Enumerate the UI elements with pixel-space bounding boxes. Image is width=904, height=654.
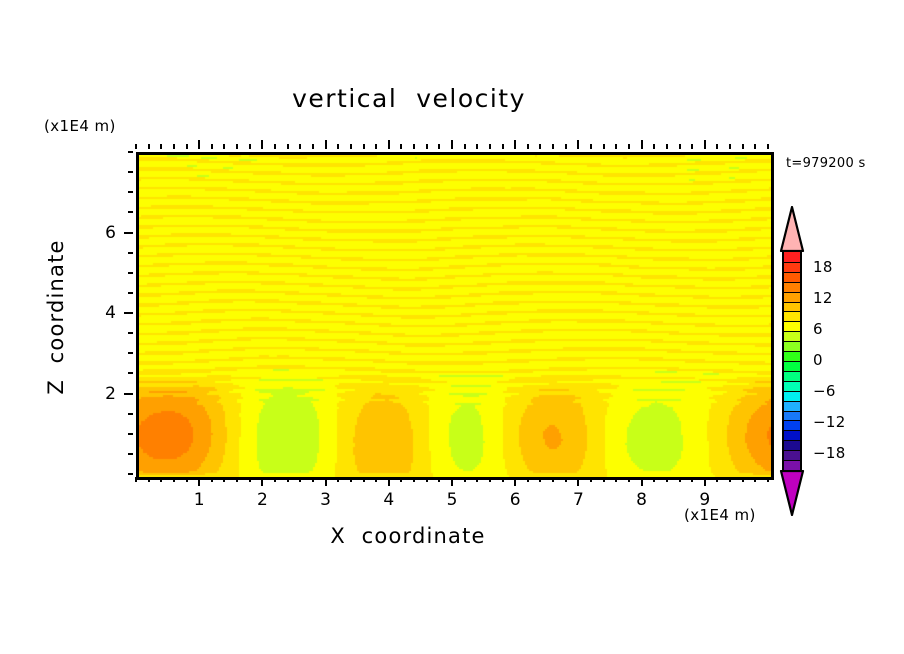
z-axis-minor-tick (128, 292, 133, 294)
x-axis-major-tick-top (261, 140, 263, 149)
x-axis-major-tick (198, 477, 200, 486)
x-axis-minor-tick (666, 477, 668, 482)
colorbar-band (784, 411, 800, 422)
x-axis-title-text: X coordinate (330, 524, 485, 548)
colorbar-band (784, 351, 800, 362)
x-axis-minor-tick (211, 477, 213, 482)
x-axis-minor-tick-top (653, 144, 655, 149)
x-axis-minor-tick-top (400, 144, 402, 149)
x-axis-minor-tick (287, 477, 289, 482)
x-axis-major-tick (514, 477, 516, 486)
colorbar-band-divider (784, 361, 800, 362)
z-axis-minor-tick (128, 352, 133, 354)
x-axis-minor-tick (754, 477, 756, 482)
x-axis-major-tick (641, 477, 643, 486)
x-axis-minor-tick-top (527, 144, 529, 149)
x-axis-minor-tick (426, 477, 428, 482)
page-title: vertical velocity (0, 84, 904, 113)
x-axis-minor-tick-top (464, 144, 466, 149)
x-axis-minor-tick (274, 477, 276, 482)
x-axis-minor-tick (337, 477, 339, 482)
x-axis-major-tick (325, 477, 327, 486)
colorbar-tick-label: −12 (813, 413, 846, 431)
x-axis-minor-tick (236, 477, 238, 482)
z-axis-tick-label: 6 (76, 223, 116, 243)
colorbar-band-divider (784, 351, 800, 352)
x-axis-minor-tick-top (148, 144, 150, 149)
x-axis-minor-tick (539, 477, 541, 482)
x-axis-minor-tick (350, 477, 352, 482)
page-title-text: vertical velocity (292, 84, 526, 113)
colorbar-band-divider (784, 391, 800, 392)
x-axis-minor-tick-top (249, 144, 251, 149)
z-axis-tick-label: 4 (76, 303, 116, 323)
colorbar-band-divider (784, 341, 800, 342)
colorbar-band-divider (784, 420, 800, 421)
x-axis-minor-tick (767, 477, 769, 482)
colorbar-band (784, 302, 800, 313)
z-axis-minor-tick (128, 372, 133, 374)
x-axis-minor-tick-top (666, 144, 668, 149)
x-axis-minor-tick-top (413, 144, 415, 149)
x-axis-minor-tick (729, 477, 731, 482)
colorbar-tick-label: 12 (813, 289, 833, 307)
colorbar-tick-label: −18 (813, 444, 846, 462)
x-axis-minor-tick-top (223, 144, 225, 149)
x-axis-major-tick (577, 477, 579, 486)
x-axis-minor-tick (375, 477, 377, 482)
z-axis-major-tick (124, 393, 133, 395)
x-axis-major-tick (388, 477, 390, 486)
x-axis-minor-tick-top (615, 144, 617, 149)
figure-canvas: vertical velocity (x1E4 m) t=979200 s 12… (0, 0, 904, 654)
colorbar-band-divider (784, 321, 800, 322)
x-axis-minor-tick (552, 477, 554, 482)
x-axis-minor-tick (476, 477, 478, 482)
x-axis-minor-tick (527, 477, 529, 482)
colorbar-top-arrow-icon (779, 206, 805, 252)
z-axis-major-tick (124, 232, 133, 234)
x-axis-minor-tick-top (135, 144, 137, 149)
x-axis-minor-tick-top (173, 144, 175, 149)
colorbar: 181260−6−12−18 (779, 206, 805, 516)
x-axis-minor-tick (603, 477, 605, 482)
z-axis-minor-tick (128, 272, 133, 274)
x-axis-minor-tick (223, 477, 225, 482)
x-axis-minor-tick-top (502, 144, 504, 149)
x-axis-minor-tick-top (438, 144, 440, 149)
x-axis-major-tick-top (198, 140, 200, 149)
time-stamp-label: t=979200 s (786, 156, 866, 171)
x-axis-minor-tick (160, 477, 162, 482)
z-axis-minor-tick (128, 413, 133, 415)
x-axis-minor-tick (438, 477, 440, 482)
colorbar-band-divider (784, 302, 800, 303)
x-axis-minor-tick-top (337, 144, 339, 149)
colorbar-band-divider (784, 411, 800, 412)
x-axis-tick-label: 6 (495, 490, 535, 510)
x-axis-minor-tick (312, 477, 314, 482)
colorbar-band-divider (784, 262, 800, 263)
colorbar-band-divider (784, 292, 800, 293)
x-axis-major-tick-top (388, 140, 390, 149)
colorbar-band-divider (784, 460, 800, 461)
x-axis-tick-label: 4 (369, 490, 409, 510)
x-axis-minor-tick-top (160, 144, 162, 149)
x-axis-title: X coordinate (0, 524, 904, 548)
x-axis-minor-tick-top (186, 144, 188, 149)
x-axis-minor-tick-top (691, 144, 693, 149)
x-axis-units-label: (x1E4 m) (684, 506, 756, 524)
x-axis-minor-tick-top (363, 144, 365, 149)
colorbar-tick-label: 6 (813, 320, 823, 338)
x-axis-minor-tick (464, 477, 466, 482)
z-axis-minor-tick (128, 191, 133, 193)
x-axis-minor-tick-top (312, 144, 314, 149)
x-axis-minor-tick (691, 477, 693, 482)
x-axis-tick-label: 2 (242, 490, 282, 510)
z-axis-minor-tick (128, 332, 133, 334)
z-axis-title: Z coordinate (44, 237, 68, 397)
colorbar-band-divider (784, 450, 800, 451)
x-axis-minor-tick-top (767, 144, 769, 149)
x-axis-major-tick-top (577, 140, 579, 149)
z-axis-tick-label: 2 (76, 384, 116, 404)
x-axis-minor-tick (249, 477, 251, 482)
x-axis-minor-tick (502, 477, 504, 482)
colorbar-tick-label: −6 (813, 382, 836, 400)
x-axis-minor-tick-top (287, 144, 289, 149)
contour-plot-area (136, 152, 774, 480)
z-axis-minor-tick (128, 453, 133, 455)
x-axis-major-tick (704, 477, 706, 486)
x-axis-major-tick-top (514, 140, 516, 149)
x-axis-minor-tick-top (299, 144, 301, 149)
colorbar-band-divider (784, 272, 800, 273)
x-axis-minor-tick (173, 477, 175, 482)
x-axis-minor-tick (615, 477, 617, 482)
x-axis-minor-tick-top (628, 144, 630, 149)
x-axis-minor-tick-top (590, 144, 592, 149)
x-axis-minor-tick-top (211, 144, 213, 149)
x-axis-minor-tick-top (716, 144, 718, 149)
x-axis-minor-tick-top (565, 144, 567, 149)
z-axis-units-label: (x1E4 m) (44, 117, 116, 135)
x-axis-minor-tick (135, 477, 137, 482)
x-axis-minor-tick-top (742, 144, 744, 149)
z-axis-minor-tick (128, 433, 133, 435)
x-axis-tick-label: 7 (558, 490, 598, 510)
x-axis-minor-tick-top (539, 144, 541, 149)
x-axis-minor-tick (413, 477, 415, 482)
colorbar-band-divider (784, 282, 800, 283)
z-axis-minor-tick (128, 211, 133, 213)
z-axis-minor-tick (128, 473, 133, 475)
x-axis-minor-tick-top (274, 144, 276, 149)
x-axis-major-tick (261, 477, 263, 486)
x-axis-major-tick-top (704, 140, 706, 149)
x-axis-tick-label: 1 (179, 490, 219, 510)
colorbar-band-divider (784, 440, 800, 441)
colorbar-tick-label: 0 (813, 351, 823, 369)
x-axis-minor-tick (653, 477, 655, 482)
x-axis-minor-tick (590, 477, 592, 482)
z-axis-minor-tick (128, 252, 133, 254)
x-axis-minor-tick-top (375, 144, 377, 149)
colorbar-band (784, 460, 800, 471)
x-axis-minor-tick-top (350, 144, 352, 149)
colorbar-band-divider (784, 371, 800, 372)
z-axis-major-tick (124, 312, 133, 314)
x-axis-major-tick-top (451, 140, 453, 149)
x-axis-minor-tick (679, 477, 681, 482)
contour-field (139, 155, 771, 477)
x-axis-major-tick-top (325, 140, 327, 149)
x-axis-minor-tick-top (489, 144, 491, 149)
x-axis-minor-tick (716, 477, 718, 482)
x-axis-minor-tick-top (476, 144, 478, 149)
x-axis-minor-tick-top (552, 144, 554, 149)
colorbar-bands (782, 250, 802, 472)
x-axis-major-tick (451, 477, 453, 486)
x-axis-minor-tick-top (236, 144, 238, 149)
x-axis-minor-tick (489, 477, 491, 482)
x-axis-minor-tick-top (729, 144, 731, 149)
colorbar-band-divider (784, 311, 800, 312)
x-axis-minor-tick (742, 477, 744, 482)
x-axis-minor-tick (186, 477, 188, 482)
x-axis-tick-label: 3 (306, 490, 346, 510)
colorbar-band-divider (784, 430, 800, 431)
x-axis-minor-tick (299, 477, 301, 482)
colorbar-band-divider (784, 381, 800, 382)
x-axis-tick-label: 5 (432, 490, 472, 510)
colorbar-band-divider (784, 401, 800, 402)
x-axis-minor-tick (363, 477, 365, 482)
colorbar-band-divider (784, 331, 800, 332)
colorbar-bottom-arrow-icon (779, 470, 805, 516)
x-axis-minor-tick-top (754, 144, 756, 149)
x-axis-minor-tick-top (679, 144, 681, 149)
x-axis-minor-tick (400, 477, 402, 482)
x-axis-minor-tick-top (603, 144, 605, 149)
x-axis-tick-label: 8 (622, 490, 662, 510)
x-axis-minor-tick (628, 477, 630, 482)
colorbar-tick-label: 18 (813, 258, 833, 276)
x-axis-minor-tick (148, 477, 150, 482)
z-axis-minor-tick (128, 171, 133, 173)
x-axis-major-tick-top (641, 140, 643, 149)
x-axis-minor-tick-top (426, 144, 428, 149)
z-axis-minor-tick (128, 151, 133, 153)
x-axis-minor-tick (565, 477, 567, 482)
